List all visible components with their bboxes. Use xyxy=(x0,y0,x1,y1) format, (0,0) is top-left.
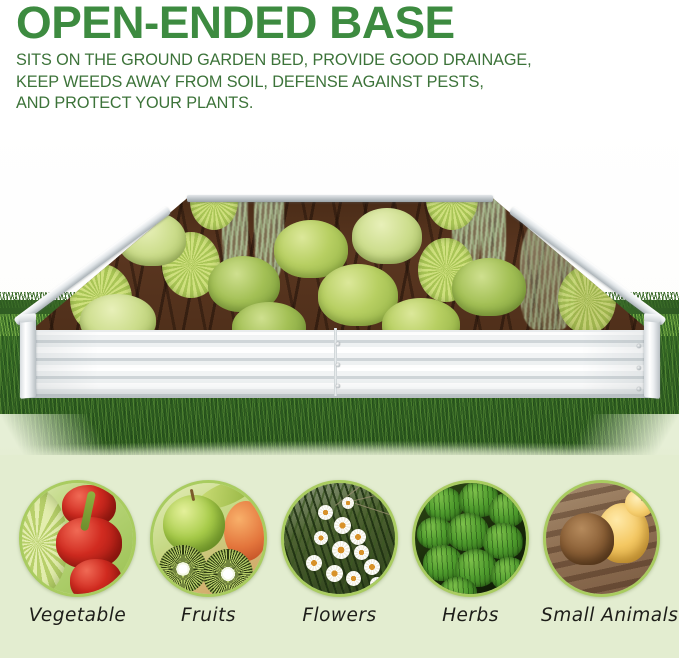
vegetable-photo xyxy=(22,483,133,594)
daisy-flower xyxy=(314,531,328,545)
bolt xyxy=(637,344,641,348)
mint-leaf xyxy=(489,493,525,527)
subheading-line-1: SITS ON THE GROUND GARDEN BED, PROVIDE G… xyxy=(16,50,656,72)
category-list: Vegetable Fruits xyxy=(0,480,679,658)
category-item-small-animals: Small Animals xyxy=(541,480,662,658)
fruits-photo-circle xyxy=(150,480,267,597)
chick-head xyxy=(625,489,655,517)
use-case-category-panel: Vegetable Fruits xyxy=(0,455,679,658)
category-item-herbs: Herbs xyxy=(410,480,531,658)
kiwi-half xyxy=(159,545,207,593)
corner-post-cap xyxy=(644,313,660,323)
green-apple xyxy=(163,495,225,553)
marketing-copy-block: OPEN-ENDED BASE SITS ON THE GROUND GARDE… xyxy=(16,0,666,115)
panel-top-fade xyxy=(0,421,679,469)
daisy-flower xyxy=(354,545,369,560)
daisy-flower xyxy=(326,565,343,582)
subheading: SITS ON THE GROUND GARDEN BED, PROVIDE G… xyxy=(16,50,656,115)
bed-right-corner-post xyxy=(644,319,660,399)
flowers-photo xyxy=(284,483,395,594)
daisy-flower xyxy=(364,559,380,575)
basil-plant xyxy=(352,208,422,264)
herbs-photo-circle xyxy=(412,480,529,597)
corner-post-cap xyxy=(20,313,36,323)
planted-vegetables xyxy=(22,198,658,338)
category-label-vegetable: Vegetable xyxy=(17,605,138,626)
tomato xyxy=(70,559,122,597)
daisy-flower xyxy=(346,571,361,586)
raised-garden-bed xyxy=(22,198,658,398)
fruits-photo xyxy=(153,483,264,594)
category-label-flowers: Flowers xyxy=(279,605,400,626)
product-hero-image xyxy=(0,118,679,470)
flowers-photo-circle xyxy=(281,480,398,597)
daisy-flower xyxy=(342,497,354,509)
daisy-flower xyxy=(350,529,366,545)
category-label-small-animals: Small Animals xyxy=(541,605,662,626)
herbs-photo xyxy=(415,483,526,594)
category-item-fruits: Fruits xyxy=(148,480,269,658)
mint-leaf xyxy=(491,557,527,591)
daisy-flower xyxy=(318,505,333,520)
bolt xyxy=(637,366,641,370)
corrugated-steel-front-panel xyxy=(22,330,658,398)
brown-chick xyxy=(560,513,614,565)
category-label-fruits: Fruits xyxy=(148,605,269,626)
daisy-flower xyxy=(334,517,351,534)
category-label-herbs: Herbs xyxy=(410,605,531,626)
bolt xyxy=(637,387,641,391)
bed-back-rail xyxy=(187,195,493,202)
bolt xyxy=(336,384,340,388)
vegetable-photo-circle xyxy=(19,480,136,597)
subheading-line-3: AND PROTECT YOUR PLANTS. xyxy=(16,93,656,115)
kiwi-half xyxy=(203,549,253,597)
bed-left-corner-post xyxy=(20,319,36,399)
daisy-flower xyxy=(370,577,384,591)
chick-eye xyxy=(641,497,645,501)
small-animals-photo-circle xyxy=(543,480,660,597)
category-item-flowers: Flowers xyxy=(279,480,400,658)
product-feature-graphic: OPEN-ENDED BASE SITS ON THE GROUND GARDE… xyxy=(0,0,679,658)
subheading-line-2: KEEP WEEDS AWAY FROM SOIL, DEFENSE AGAIN… xyxy=(16,72,656,94)
daisy-flower xyxy=(332,541,350,559)
bolt xyxy=(336,342,340,346)
basil-plant xyxy=(452,258,526,316)
bolt xyxy=(336,363,340,367)
small-animals-photo xyxy=(546,483,657,594)
category-item-vegetable: Vegetable xyxy=(17,480,138,658)
daisy-flower xyxy=(306,555,322,571)
page-title: OPEN-ENDED BASE xyxy=(16,0,679,46)
panel-seam xyxy=(334,328,337,396)
